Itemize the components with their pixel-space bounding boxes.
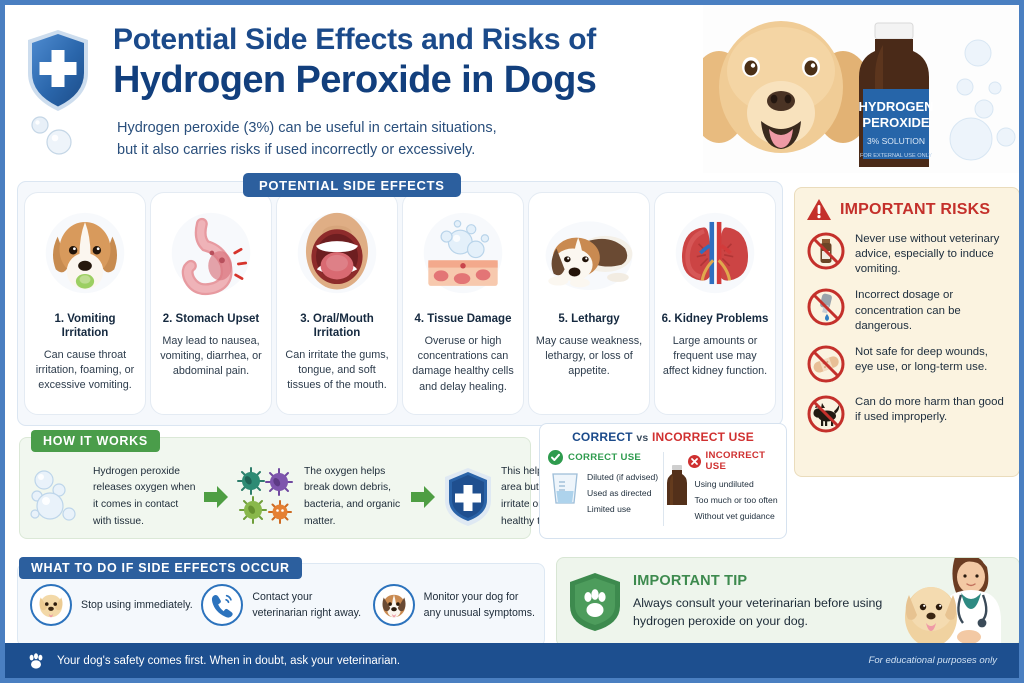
arrow-right-icon [202,484,230,510]
page-title-line1: Potential Side Effects and Risks of [113,23,596,57]
paw-icon [27,652,45,670]
what-to-do-text: Contact your veterinarian right away. [252,589,366,621]
correct-use-list: Diluted (if advised) Used as directed Li… [587,470,658,518]
important-risks-panel: IMPORTANT RISKS Never use without veteri… [794,187,1020,477]
title-correct: CORRECT [572,430,633,444]
side-effect-card[interactable]: 2. Stomach Upset May lead to nausea, vom… [150,192,272,415]
stomach-icon [156,201,266,305]
no-bottle-icon [806,231,846,271]
section-badge-how-it-works: HOW IT WORKS [31,430,160,452]
side-effect-card[interactable]: 3. Oral/Mouth Irritation Can irritate th… [276,192,398,415]
bottle-label-line3: 3% SOLUTION [867,136,925,146]
shield-medical-cross-icon [19,23,97,119]
what-to-do-item[interactable]: Contact your veterinarian right away. [195,584,366,626]
page-title-line2: Hydrogen Peroxide in Dogs [113,59,596,102]
subtitle-line-1: Hydrogen peroxide (3%) can be useful in … [117,117,497,139]
bottle-label-line1: HYDROGEN [858,99,933,114]
incorrect-use-item: Without vet guidance [695,509,778,525]
footer: Your dog's safety comes first. When in d… [5,643,1019,678]
side-effect-title: 1. Vomiting Irritation [30,313,140,341]
side-effect-card[interactable]: 5. Lethargy May cause weakness, lethargy… [528,192,650,415]
risk-item-text: Never use without veterinary advice, esp… [855,231,1008,277]
risk-item-text: Not safe for deep wounds, eye use, or lo… [855,344,1008,375]
side-effect-card[interactable]: 1. Vomiting Irritation Can cause throat … [24,192,146,415]
subtitle-line-2: but it also carries risks if used incorr… [117,139,497,161]
hero-image: HYDROGEN PEROXIDE 3% SOLUTION FOR EXTERN… [703,5,1019,173]
section-badge-what-to-do: WHAT TO DO IF SIDE EFFECTS OCCUR [19,557,302,579]
section-badge-potential-side-effects: POTENTIAL SIDE EFFECTS [243,173,461,197]
infographic-root: Potential Side Effects and Risks of Hydr… [0,0,1024,683]
germs-icon [235,466,297,528]
correct-use-header: CORRECT USE [548,450,663,465]
open-mouth-icon [282,201,392,305]
side-effect-card[interactable]: 4. Tissue Damage Overuse or high concent… [402,192,524,415]
incorrect-use-item: Using undiluted [695,477,778,493]
important-tip-title: IMPORTANT TIP [633,573,899,589]
correct-use-content: Diluted (if advised) Used as directed Li… [548,470,663,518]
important-tip-body: IMPORTANT TIP Always consult your veteri… [623,573,899,631]
side-effects-panel: 1. Vomiting Irritation Can cause throat … [17,181,783,426]
important-risks-header: IMPORTANT RISKS [806,198,1008,222]
correct-use-item: Diluted (if advised) [587,470,658,486]
side-effect-title: 5. Lethargy [558,313,619,327]
side-effect-desc: May cause weakness, lethargy, or loss of… [534,334,644,380]
risk-item: Can do more harm than good if used impro… [806,394,1008,434]
what-to-do-item[interactable]: Monitor your dog for any unusual symptom… [367,584,538,626]
risk-item: Never use without veterinary advice, esp… [806,231,1008,277]
risk-item: Not safe for deep wounds, eye use, or lo… [806,344,1008,384]
title-vs: vs [636,432,648,444]
side-effect-desc: Large amounts or frequent use may affect… [660,334,770,380]
incorrect-use-column: INCORRECT USE Using undiluted Too much o… [664,450,779,528]
incorrect-use-label: INCORRECT USE [706,450,778,472]
footer-note: For educational purposes only [868,655,997,666]
correct-use-item: Limited use [587,502,658,518]
arrow-right-icon [409,484,437,510]
vet-with-dog-illustration [899,557,1019,647]
what-to-do-text: Monitor your dog for any unusual symptom… [424,589,538,621]
risk-item: Incorrect dosage or concentration can be… [806,287,1008,333]
title-incorrect: INCORRECT USE [652,430,754,444]
incorrect-use-item: Too much or too often [695,493,778,509]
correct-use-item: Used as directed [587,486,658,502]
footer-text: Your dog's safety comes first. When in d… [57,655,868,667]
correct-vs-incorrect-title: CORRECT vs INCORRECT USE [540,424,786,444]
correct-vs-incorrect-body: CORRECT USE Diluted (if advised) Used as… [540,444,786,528]
important-risks-title: IMPORTANT RISKS [840,201,990,219]
how-it-works-panel: Hydrogen peroxide releases oxygen when i… [19,437,531,539]
how-it-works-flow: Hydrogen peroxide releases oxygen when i… [20,458,530,536]
side-effect-desc: Can cause throat irritation, foaming, or… [30,348,140,394]
beaker-diluted-icon [548,470,582,506]
bottle-label-line2: PEROXIDE [862,115,930,130]
beagle-face-icon [373,584,415,626]
incorrect-use-list: Using undiluted Too much or too often Wi… [695,477,778,525]
kidneys-icon [660,201,770,305]
side-effects-grid: 1. Vomiting Irritation Can cause throat … [18,182,782,425]
side-effect-title: 2. Stomach Upset [163,313,260,327]
no-dropper-icon [806,287,846,327]
side-effect-desc: Overuse or high concentrations can damag… [408,334,518,395]
tissue-bubbles-icon [408,201,518,305]
correct-vs-incorrect-panel: CORRECT vs INCORRECT USE CORRECT USE [539,423,787,539]
no-bandage-icon [806,344,846,384]
header: Potential Side Effects and Risks of Hydr… [5,5,1019,173]
important-tip-panel: IMPORTANT TIP Always consult your veteri… [556,557,1020,647]
phone-ringing-icon [201,584,243,626]
shield-cross-icon [442,466,494,528]
how-it-works-text: Hydrogen peroxide releases oxygen when i… [93,464,197,531]
side-effect-title: 4. Tissue Damage [415,313,512,327]
warning-triangle-icon [806,198,832,222]
page-subtitle: Hydrogen peroxide (3%) can be useful in … [117,117,497,161]
correct-use-label: CORRECT USE [568,452,641,463]
brown-bottle-icon [664,463,690,507]
correct-use-column: CORRECT USE Diluted (if advised) Used as… [548,450,663,528]
how-it-works-step: Hydrogen peroxide releases oxygen when i… [28,464,197,531]
how-it-works-step: The oxygen helps break down debris, bact… [235,464,404,531]
lethargic-dog-icon [534,201,644,305]
shield-paw-icon [567,571,623,633]
dog-vomiting-icon [30,201,140,305]
risk-item-text: Can do more harm than good if used impro… [855,394,1008,425]
what-to-do-text: Stop using immediately. [81,597,193,613]
bubbles-icon [28,466,86,528]
side-effect-desc: Can irritate the gums, tongue, and soft … [282,348,392,394]
what-to-do-item[interactable]: Stop using immediately. [24,584,195,626]
important-tip-text: Always consult your veterinarian before … [633,595,899,631]
how-it-works-text: The oxygen helps break down debris, bact… [304,464,404,531]
no-dog-icon [806,394,846,434]
side-effect-title: 6. Kidney Problems [662,313,769,327]
risk-item-text: Incorrect dosage or concentration can be… [855,287,1008,333]
bubbles-icon [29,113,89,157]
dog-face-icon [30,584,72,626]
bottle-label-line4: FOR EXTERNAL USE ONLY [860,153,932,159]
check-circle-icon [548,450,563,465]
side-effect-title: 3. Oral/Mouth Irritation [282,313,392,341]
side-effect-card[interactable]: 6. Kidney Problems Large amounts or freq… [654,192,776,415]
side-effect-desc: May lead to nausea, vomiting, diarrhea, … [156,334,266,380]
incorrect-use-content: Using undiluted Too much or too often Wi… [664,477,779,525]
